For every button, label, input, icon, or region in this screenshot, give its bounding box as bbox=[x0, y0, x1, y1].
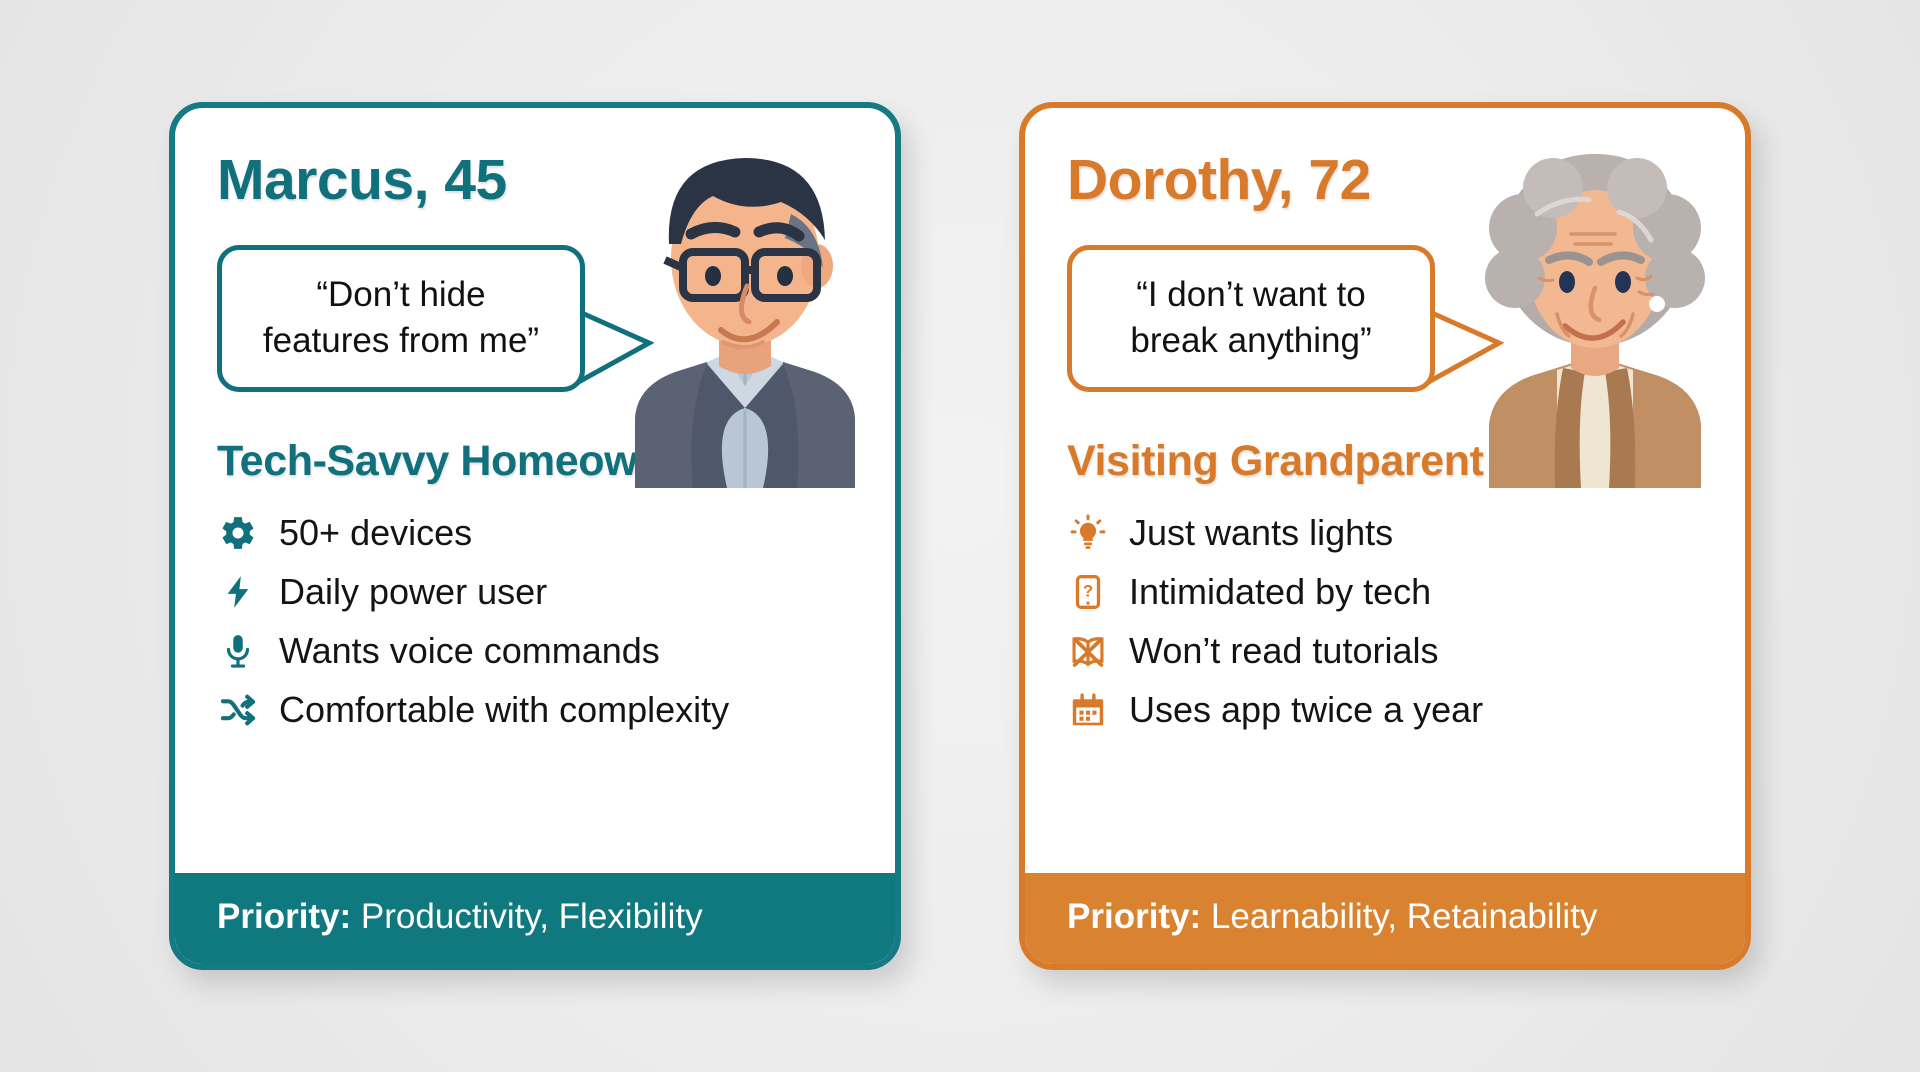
priority-footer: Priority: Productivity, Flexibility bbox=[175, 873, 895, 964]
quote-line-1: “I don’t want to bbox=[1092, 272, 1410, 318]
calendar-icon bbox=[1067, 689, 1109, 731]
crossed-out-book-icon bbox=[1067, 630, 1109, 672]
trait-item: Comfortable with complexity bbox=[217, 680, 853, 739]
shuffle-icon bbox=[217, 689, 259, 731]
speech-bubble-wrapper: “Don’t hide features from me” bbox=[217, 245, 585, 392]
trait-item: Just wants lights bbox=[1067, 503, 1703, 562]
persona-card-container: Marcus, 45 “Don’t hide features from me” bbox=[0, 0, 1920, 1072]
persona-card-dorothy[interactable]: Dorothy, 72 “I don’t want to break anyth… bbox=[1019, 102, 1751, 970]
speech-bubble: “I don’t want to break anything” bbox=[1067, 245, 1435, 392]
trait-item: Wants voice commands bbox=[217, 621, 853, 680]
lightning-bolt-icon bbox=[217, 571, 259, 613]
speech-bubble-wrapper: “I don’t want to break anything” bbox=[1067, 245, 1435, 392]
trait-label: Comfortable with complexity bbox=[279, 692, 729, 728]
trait-label: Just wants lights bbox=[1129, 515, 1393, 551]
trait-label: Intimidated by tech bbox=[1129, 574, 1431, 610]
microphone-icon bbox=[217, 630, 259, 672]
priority-footer: Priority: Learnability, Retainability bbox=[1025, 873, 1745, 964]
quote-line-2: break anything” bbox=[1092, 318, 1410, 364]
persona-card-marcus[interactable]: Marcus, 45 “Don’t hide features from me” bbox=[169, 102, 901, 970]
trait-list: Just wants lights ? Intimidated by tech bbox=[1067, 503, 1703, 739]
tablet-question-icon: ? bbox=[1067, 571, 1109, 613]
trait-list: 50+ devices Daily power user bbox=[217, 503, 853, 739]
trait-item: Daily power user bbox=[217, 562, 853, 621]
gear-icon bbox=[217, 512, 259, 554]
quote-line-2: features from me” bbox=[242, 318, 560, 364]
trait-item: ? Intimidated by tech bbox=[1067, 562, 1703, 621]
priority-label: Priority: bbox=[217, 897, 351, 936]
card-body: Dorothy, 72 “I don’t want to break anyth… bbox=[1025, 108, 1745, 873]
trait-label: Wants voice commands bbox=[279, 633, 660, 669]
speech-bubble: “Don’t hide features from me” bbox=[217, 245, 585, 392]
trait-item: Uses app twice a year bbox=[1067, 680, 1703, 739]
priority-label: Priority: bbox=[1067, 897, 1201, 936]
trait-label: Daily power user bbox=[279, 574, 547, 610]
trait-label: Won’t read tutorials bbox=[1129, 633, 1438, 669]
quote-line-1: “Don’t hide bbox=[242, 272, 560, 318]
priority-value: Productivity, Flexibility bbox=[351, 897, 702, 936]
trait-label: Uses app twice a year bbox=[1129, 692, 1483, 728]
svg-text:?: ? bbox=[1083, 582, 1093, 600]
trait-label: 50+ devices bbox=[279, 515, 472, 551]
lightbulb-icon bbox=[1067, 512, 1109, 554]
card-body: Marcus, 45 “Don’t hide features from me” bbox=[175, 108, 895, 873]
priority-value: Learnability, Retainability bbox=[1201, 897, 1597, 936]
trait-item: 50+ devices bbox=[217, 503, 853, 562]
trait-item: Won’t read tutorials bbox=[1067, 621, 1703, 680]
